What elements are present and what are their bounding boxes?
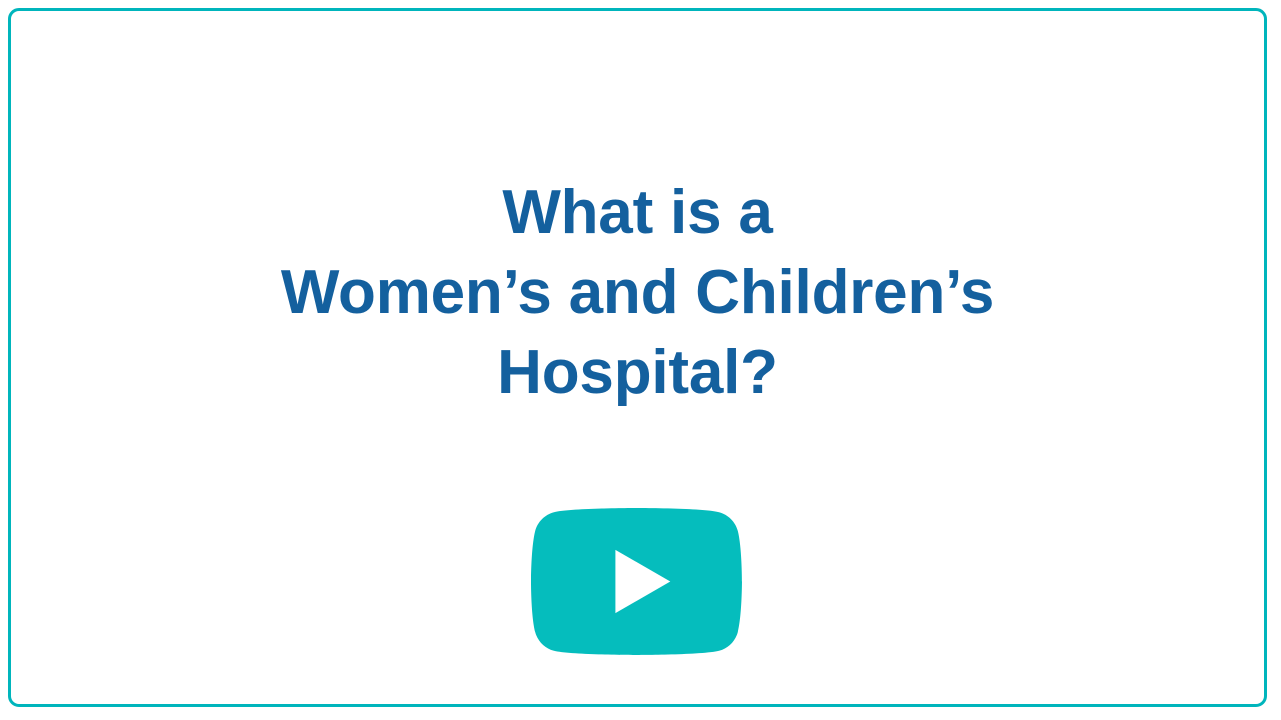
video-card: What is a Women’s and Children’s Hospita…: [8, 8, 1267, 707]
title-line-2: Women’s and Children’s: [11, 253, 1264, 333]
video-card-content: What is a Women’s and Children’s Hospita…: [11, 11, 1264, 704]
title-line-3: Hospital?: [11, 333, 1264, 413]
play-button[interactable]: [531, 508, 742, 655]
page-title: What is a Women’s and Children’s Hospita…: [11, 173, 1264, 413]
play-button-shape: [531, 508, 742, 655]
title-line-1: What is a: [11, 173, 1264, 253]
